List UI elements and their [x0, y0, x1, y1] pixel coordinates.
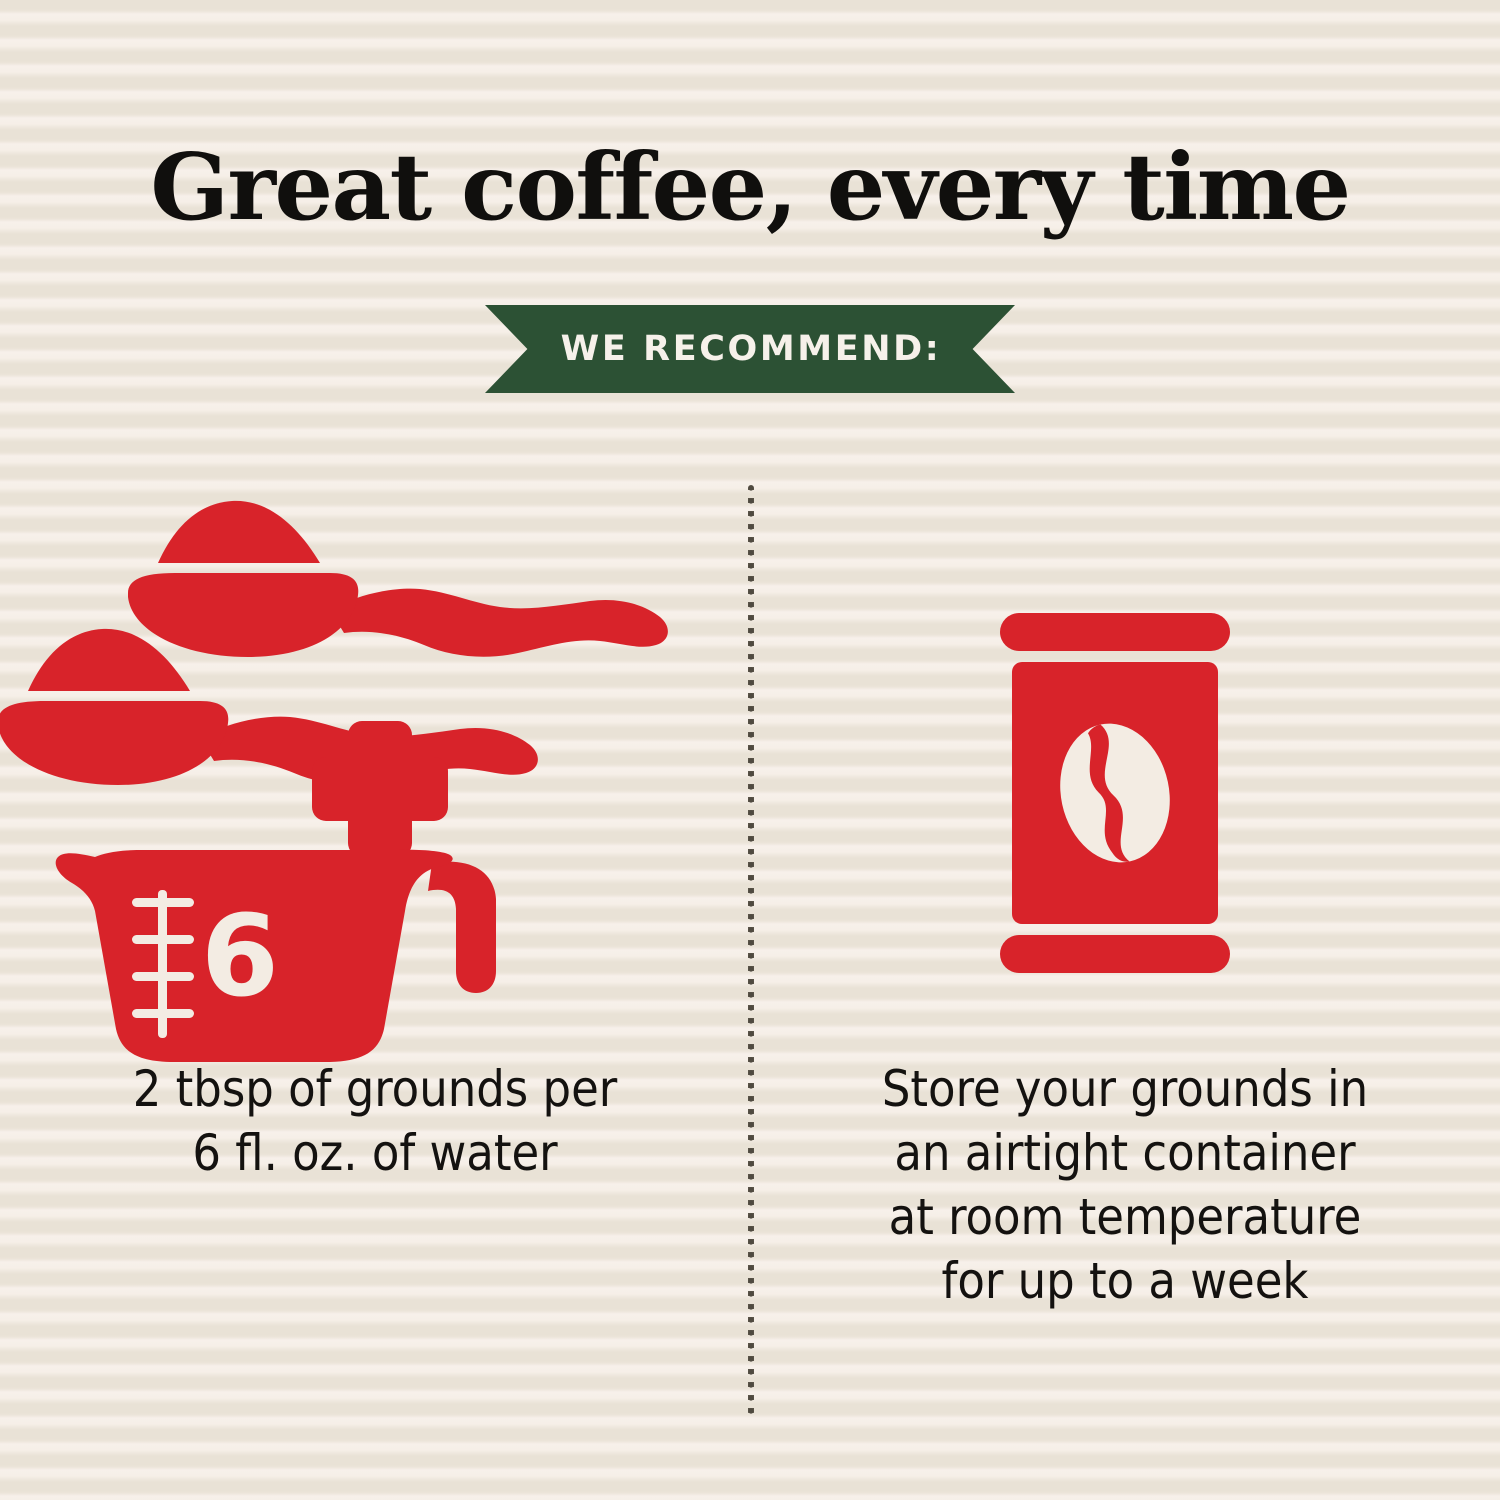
measuring-cup-marking: 6 — [201, 892, 279, 1022]
we-recommend-banner: WE RECOMMEND: — [485, 305, 1015, 393]
storage-icon-group — [750, 485, 1500, 1065]
brew-ratio-caption: 2 tbsp of grounds per 6 fl. oz. of water — [0, 1057, 750, 1185]
caption-line: an airtight container — [750, 1121, 1500, 1185]
airtight-container-icon — [1000, 613, 1230, 973]
caption-line: at room temperature — [750, 1185, 1500, 1249]
recommendation-columns: 6 2 tbsp of grounds per 6 fl. oz. of wat… — [0, 485, 1500, 1415]
brew-ratio-icon-group: 6 — [0, 485, 750, 1065]
measuring-cup-icon: 6 — [56, 850, 496, 1062]
column-brew-ratio: 6 2 tbsp of grounds per 6 fl. oz. of wat… — [0, 485, 750, 1415]
page-title: Great coffee, every time — [0, 141, 1500, 233]
caption-line: Store your grounds in — [750, 1057, 1500, 1121]
spoons-of-grounds-icon — [0, 501, 668, 785]
storage-caption: Store your grounds in an airtight contai… — [750, 1057, 1500, 1313]
column-storage: Store your grounds in an airtight contai… — [750, 485, 1500, 1415]
banner-label: WE RECOMMEND: — [559, 332, 942, 367]
caption-line: for up to a week — [750, 1249, 1500, 1313]
storage-artwork — [750, 485, 1500, 1065]
banner-ribbon-shape: WE RECOMMEND: — [485, 305, 1015, 393]
brew-ratio-artwork: 6 — [0, 485, 750, 1065]
recommendation-card: Great coffee, every time WE RECOMMEND: — [0, 0, 1500, 1500]
caption-line: 2 tbsp of grounds per — [0, 1057, 750, 1121]
caption-line: 6 fl. oz. of water — [0, 1121, 750, 1185]
